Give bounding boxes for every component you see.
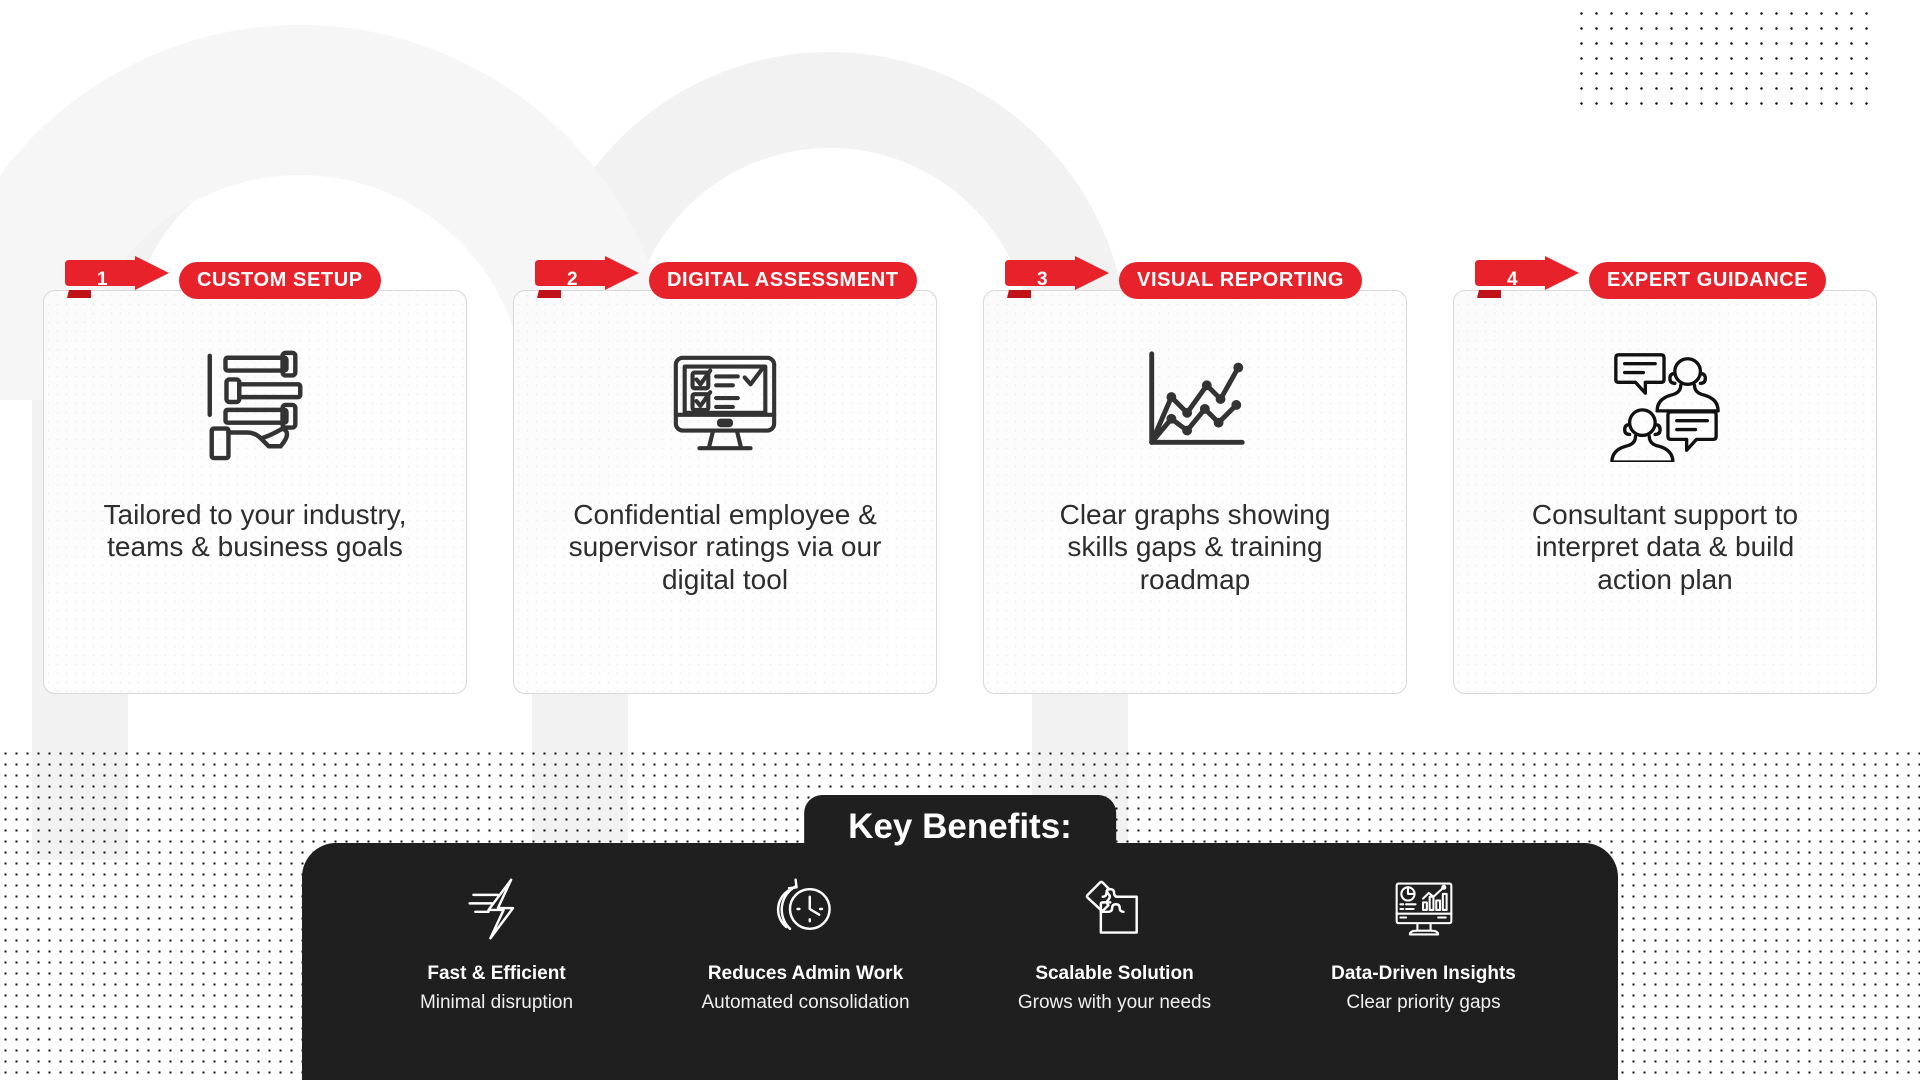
people-speech-bubbles-icon <box>1606 343 1724 463</box>
step-content-card-3: Clear graphs showing skills gaps & train… <box>983 290 1407 694</box>
step-label-3[interactable]: VISUAL REPORTING <box>1119 262 1362 299</box>
key-benefits-panel: Fast & Efficient Minimal disruption Redu… <box>302 843 1618 1080</box>
puzzle-pieces-icon <box>990 875 1240 943</box>
benefit-title-4: Data-Driven Insights <box>1299 963 1549 985</box>
arrow-shape-icon <box>1001 256 1111 304</box>
step-badge-1[interactable]: 1 CUSTOM SETUP <box>61 258 381 302</box>
step-badge-4[interactable]: 4 EXPERT GUIDANCE <box>1471 258 1826 302</box>
step-card-1: 1 CUSTOM SETUP Tailored to your industr <box>43 258 467 718</box>
monitor-checklist-icon <box>666 343 784 463</box>
step-card-2: 2 DIGITAL ASSESSMENT <box>513 258 937 718</box>
step-number-3: 3 <box>1037 269 1048 291</box>
dot-grid-top-right <box>1574 6 1874 106</box>
step-card-4: 4 EXPERT GUIDANCE <box>1453 258 1877 718</box>
step-number-4: 4 <box>1507 269 1518 291</box>
step-content-card-4: Consultant support to interpret data & b… <box>1453 290 1877 694</box>
line-chart-icon <box>1136 343 1254 463</box>
arrow-shape-icon <box>531 256 641 304</box>
arrow-shape-icon <box>61 256 171 304</box>
lightning-bolt-icon <box>372 875 622 943</box>
step-label-1[interactable]: CUSTOM SETUP <box>179 262 381 299</box>
benefit-title-1: Fast & Efficient <box>372 963 622 985</box>
step-content-card-1: Tailored to your industry, teams & busin… <box>43 290 467 694</box>
sliders-on-hand-icon <box>196 343 314 463</box>
step-badge-3[interactable]: 3 VISUAL REPORTING <box>1001 258 1362 302</box>
dashboard-monitor-icon <box>1299 875 1549 943</box>
arrow-tag-3: 3 <box>1001 260 1111 300</box>
benefit-subtitle-1: Minimal disruption <box>372 992 622 1014</box>
step-badge-2[interactable]: 2 DIGITAL ASSESSMENT <box>531 258 917 302</box>
arrow-tag-1: 1 <box>61 260 171 300</box>
step-number-1: 1 <box>97 269 108 291</box>
benefit-item-1: Fast & Efficient Minimal disruption <box>372 875 622 1014</box>
step-card-3: 3 VISUAL REPORTING <box>983 258 1407 718</box>
step-text-1: Tailored to your industry, teams & busin… <box>90 499 420 564</box>
benefit-item-3: Scalable Solution Grows with your needs <box>990 875 1240 1014</box>
benefit-subtitle-4: Clear priority gaps <box>1299 992 1549 1014</box>
benefit-title-3: Scalable Solution <box>990 963 1240 985</box>
arrow-tag-2: 2 <box>531 260 641 300</box>
benefit-title-2: Reduces Admin Work <box>681 963 931 985</box>
arrow-tag-4: 4 <box>1471 260 1581 300</box>
step-text-3: Clear graphs showing skills gaps & train… <box>1030 499 1360 596</box>
benefit-subtitle-2: Automated consolidation <box>681 992 931 1014</box>
benefit-subtitle-3: Grows with your needs <box>990 992 1240 1014</box>
key-benefits-heading: Key Benefits: <box>804 795 1116 860</box>
benefit-item-4: Data-Driven Insights Clear priority gaps <box>1299 875 1549 1014</box>
clock-rotate-icon <box>681 875 931 943</box>
step-number-2: 2 <box>567 269 578 291</box>
step-content-card-2: Confidential employee & supervisor ratin… <box>513 290 937 694</box>
step-text-4: Consultant support to interpret data & b… <box>1500 499 1830 596</box>
step-label-2[interactable]: DIGITAL ASSESSMENT <box>649 262 917 299</box>
step-text-2: Confidential employee & supervisor ratin… <box>560 499 890 596</box>
steps-row: 1 CUSTOM SETUP Tailored to your industr <box>0 258 1920 718</box>
step-label-4[interactable]: EXPERT GUIDANCE <box>1589 262 1826 299</box>
benefit-item-2: Reduces Admin Work Automated consolidati… <box>681 875 931 1014</box>
arrow-shape-icon <box>1471 256 1581 304</box>
